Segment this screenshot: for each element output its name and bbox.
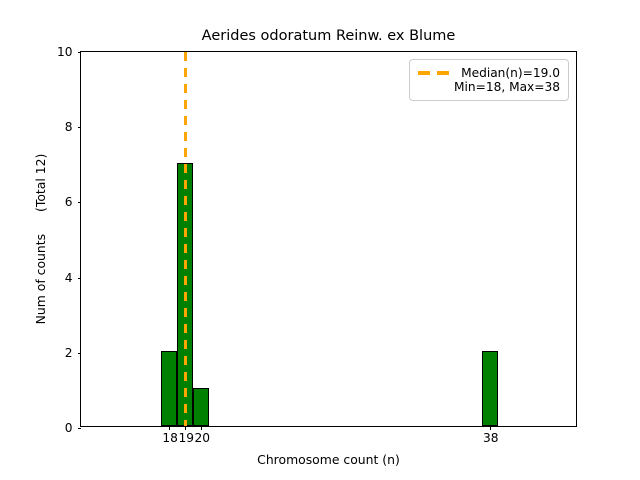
y-tick: 0 xyxy=(78,428,82,429)
y-tick-label: 2 xyxy=(65,346,73,360)
legend: Median(n)=19.0 Min=18, Max=38 xyxy=(409,59,569,101)
y-tick: 4 xyxy=(78,278,82,279)
x-tick-label: 18 xyxy=(162,431,178,445)
y-axis-label: Num of counts (Total 12) xyxy=(28,51,54,427)
dashed-line-icon xyxy=(418,66,452,80)
y-axis-label-line1: Num of counts xyxy=(33,234,48,324)
y-tick-label: 6 xyxy=(65,195,73,209)
median-line-layer xyxy=(81,52,576,426)
legend-label-median: Median(n)=19.0 xyxy=(461,66,560,80)
median-line xyxy=(184,52,187,426)
plot-area: 0246810 18192038 Median(n)=19.0 Min=18, … xyxy=(80,51,577,427)
x-tick: 18 xyxy=(169,426,170,430)
y-tick: 8 xyxy=(78,127,82,128)
y-tick-label: 0 xyxy=(65,421,73,435)
legend-label-minmax: Min=18, Max=38 xyxy=(454,80,560,94)
x-tick-label: 38 xyxy=(483,431,499,445)
x-tick-label: 19 xyxy=(178,431,194,445)
y-tick: 6 xyxy=(78,202,82,203)
y-axis-label-line2: (Total 12) xyxy=(33,154,48,212)
y-tick: 10 xyxy=(78,52,82,53)
legend-entry-median: Median(n)=19.0 xyxy=(418,66,560,80)
legend-entry-minmax: Min=18, Max=38 xyxy=(418,80,560,94)
chart-title: Aerides odoratum Reinw. ex Blume xyxy=(80,28,577,44)
x-tick: 19 xyxy=(185,426,186,430)
x-tick-label: 20 xyxy=(194,431,210,445)
matplotlib-figure: Aerides odoratum Reinw. ex Blume 0246810… xyxy=(0,0,640,480)
x-axis-label: Chromosome count (n) xyxy=(80,452,577,467)
x-tick: 38 xyxy=(490,426,491,430)
x-tick: 20 xyxy=(201,426,202,430)
y-tick-label: 10 xyxy=(57,45,73,59)
y-tick: 2 xyxy=(78,353,82,354)
y-tick-label: 4 xyxy=(65,271,73,285)
y-tick-label: 8 xyxy=(65,120,73,134)
